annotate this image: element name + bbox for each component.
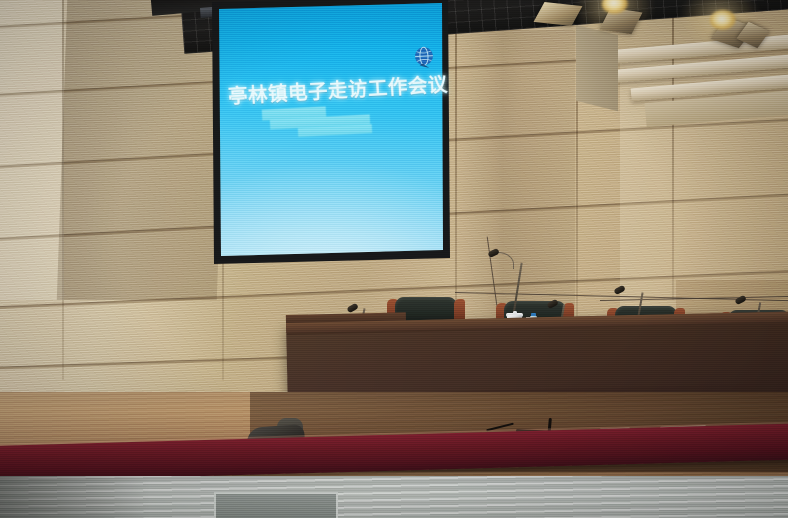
cup-knob (513, 311, 517, 314)
projection-screen: 亭林镇电子走访工作会议 (210, 0, 450, 268)
screen-grain (210, 0, 450, 268)
table-sheen (286, 324, 788, 395)
wall-panel-block (0, 0, 64, 300)
stage-apron-vent (214, 492, 338, 518)
stepped-cornice-left-return (576, 30, 616, 110)
stage-apron-shadow (0, 476, 150, 518)
photo-scene: 亭林镇电子走访工作会议 (0, 0, 788, 518)
light-bulb (710, 10, 736, 30)
